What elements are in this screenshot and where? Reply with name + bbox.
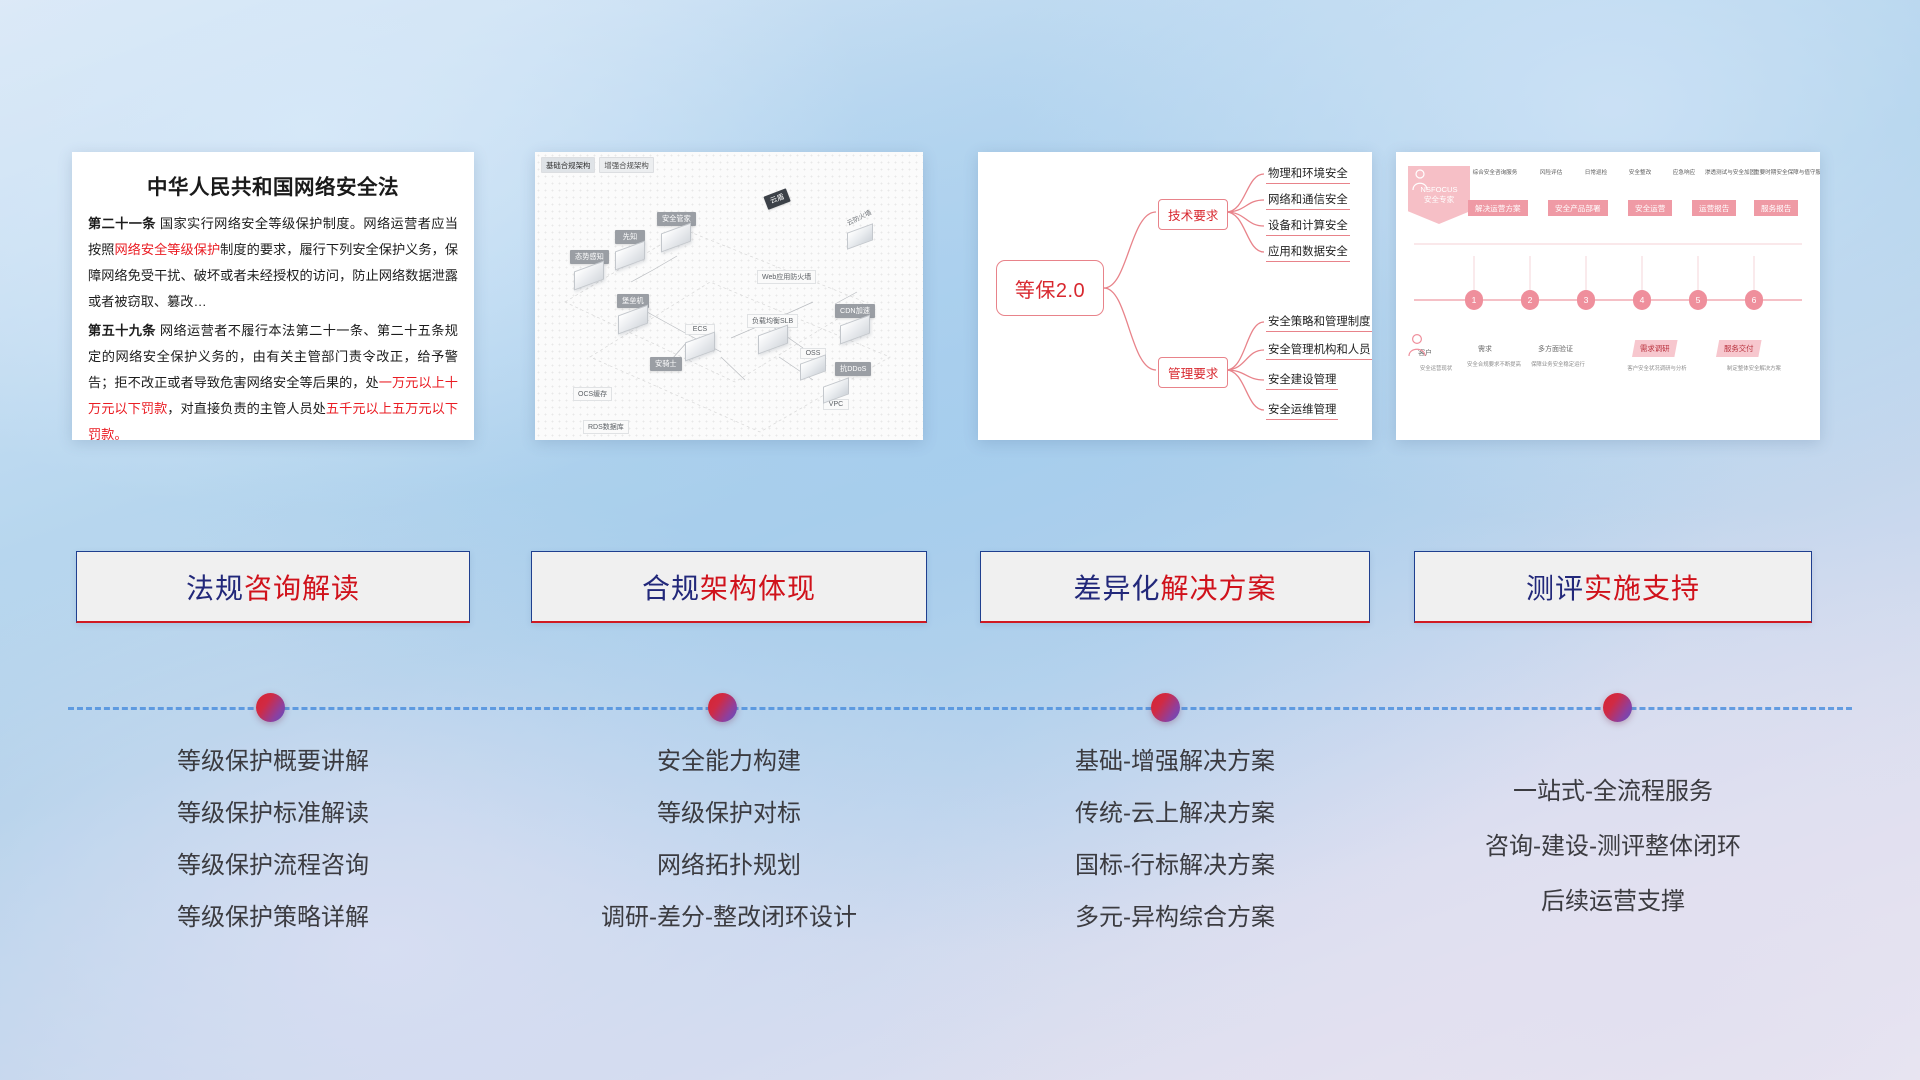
- node-anti-ddos: 抗DDoS: [835, 362, 871, 376]
- node-security-knight: 安骑士: [650, 357, 682, 371]
- heading-blue-part: 法规: [186, 567, 244, 607]
- roadmap-canvas: NSFOCUS 安全专家 综合安全咨询服务 风险评估 日常巡检 安全整改 应急响…: [1396, 152, 1820, 440]
- roadmap-pill: 解决运营方案: [1468, 200, 1528, 216]
- list-item: 等级保护概要讲解: [76, 750, 470, 774]
- roadmap-step: 5: [1689, 290, 1707, 310]
- heading-box-regulation-consulting[interactable]: 法规咨询解读: [76, 551, 470, 623]
- node-slb: 负载均衡SLB: [747, 314, 798, 349]
- list-item: 等级保护策略详解: [76, 906, 470, 930]
- heading-red-part: 架构体现: [700, 567, 816, 607]
- mindmap-leaf: 物理和环境安全: [1266, 164, 1350, 184]
- detail-column-architecture: 安全能力构建 等级保护对标 网络拓扑规划 调研-差分-整改闭环设计: [531, 750, 927, 958]
- roadmap-head: 渗透测试与安全加固: [1702, 168, 1758, 176]
- roadmap-head: 综合安全咨询服务: [1466, 168, 1524, 176]
- roadmap-head: 应急响应: [1664, 168, 1704, 176]
- heading-box-evaluation-support[interactable]: 测评实施支持: [1414, 551, 1812, 623]
- brand-subtitle: 安全专家: [1424, 195, 1454, 205]
- roadmap-step: 2: [1521, 290, 1539, 310]
- roadmap-side-label: 需求: [1478, 344, 1492, 354]
- node-cdn: CDN加速: [835, 304, 875, 339]
- roadmap-step: 4: [1633, 290, 1651, 310]
- law-title: 中华人民共和国网络安全法: [72, 152, 474, 211]
- list-item: 等级保护对标: [531, 802, 927, 826]
- list-item: 调研-差分-整改闭环设计: [531, 906, 927, 930]
- mindmap-root-node: 等保2.0: [996, 260, 1104, 316]
- list-item: 一站式-全流程服务: [1414, 780, 1812, 804]
- heading-red-part: 咨询解读: [244, 567, 360, 607]
- cards-row: 中华人民共和国网络安全法 第二十一条 国家实行网络安全等级保护制度。网络运营者应…: [0, 0, 1920, 440]
- list-item: 国标-行标解决方案: [980, 854, 1370, 878]
- timeline-dashed-line: [68, 707, 1852, 710]
- roadmap-caption: 制定整体安全解决方案: [1708, 364, 1800, 372]
- list-item: 安全能力构建: [531, 750, 927, 774]
- timeline: [0, 688, 1920, 728]
- roadmap-head: 日常巡检: [1576, 168, 1616, 176]
- heading-red-part: 解决方案: [1161, 567, 1277, 607]
- article-21-highlight: 网络安全等级保护: [114, 242, 220, 257]
- mindmap-leaf: 安全管理机构和人员: [1266, 340, 1372, 360]
- heading-blue-part: 差异化: [1073, 567, 1160, 607]
- expert-icon: [1410, 168, 1430, 192]
- node-situation-awareness: 态势感知: [570, 250, 609, 285]
- card-architecture-diagram: 基础合规架构 增强合规架构: [535, 152, 923, 440]
- list-item: 咨询-建设-测评整体闭环: [1414, 835, 1812, 859]
- roadmap-head: 风险评估: [1530, 168, 1572, 176]
- mindmap-leaf: 网络和通信安全: [1266, 190, 1350, 210]
- roadmap-caption: 客户安全状况调研与分析: [1612, 364, 1702, 372]
- roadmap-head: 安全整改: [1620, 168, 1660, 176]
- tab-basic-architecture[interactable]: 基础合规架构: [541, 157, 595, 173]
- article-59-label: 第五十九条: [88, 323, 156, 338]
- roadmap-banner: 服务交付: [1716, 340, 1762, 357]
- heading-red-part: 实施支持: [1584, 567, 1700, 607]
- architecture-canvas: 基础合规架构 增强合规架构: [535, 152, 923, 440]
- list-item: 等级保护标准解读: [76, 802, 470, 826]
- law-article-21: 第二十一条 国家实行网络安全等级保护制度。网络运营者应当按照网络安全等级保护制度…: [88, 211, 458, 315]
- mindmap-leaf: 安全建设管理: [1266, 370, 1338, 390]
- roadmap-pill: 安全产品部署: [1548, 200, 1608, 216]
- article-59-text-b: ，对直接负责的主管人员处: [167, 401, 326, 416]
- timeline-dot-3[interactable]: [1151, 693, 1180, 722]
- node-ocs-cache: OCS缓存: [573, 387, 612, 401]
- heading-blue-part: 合规: [642, 567, 700, 607]
- timeline-dot-2[interactable]: [708, 693, 737, 722]
- detail-column-evaluation: 一站式-全流程服务 咨询-建设-测评整体闭环 后续运营支撑: [1414, 780, 1812, 945]
- card-cybersecurity-law: 中华人民共和国网络安全法 第二十一条 国家实行网络安全等级保护制度。网络运营者应…: [72, 152, 474, 440]
- law-body: 第二十一条 国家实行网络安全等级保护制度。网络运营者应当按照网络安全等级保护制度…: [72, 211, 474, 440]
- roadmap-side-caption: 保障业务安全稳定运行: [1518, 360, 1598, 368]
- roadmap-head: 重要时期安全保障与值守服务: [1754, 168, 1816, 176]
- mindmap-leaf: 设备和计算安全: [1266, 216, 1350, 236]
- node-security-butler: 安全管家: [657, 212, 696, 247]
- detail-column-solution: 基础-增强解决方案 传统-云上解决方案 国标-行标解决方案 多元-异构综合方案: [980, 750, 1370, 958]
- node-ecs: ECS: [685, 324, 715, 356]
- list-item: 后续运营支撑: [1414, 890, 1812, 914]
- list-item: 等级保护流程咨询: [76, 854, 470, 878]
- mindmap-leaf: 安全运维管理: [1266, 400, 1338, 420]
- mindmap-leaf: 应用和数据安全: [1266, 242, 1350, 262]
- node-vpc: VPC: [823, 382, 849, 410]
- heading-blue-part: 测评: [1526, 567, 1584, 607]
- card-mindmap-dengbao: 等保2.0 技术要求 管理要求 物理和环境安全 网络和通信安全 设备和计算安全 …: [978, 152, 1372, 440]
- node-cloud-shield: 云盾: [765, 192, 789, 206]
- node-rds-database: RDS数据库: [583, 420, 629, 434]
- detail-column-regulation: 等级保护概要讲解 等级保护标准解读 等级保护流程咨询 等级保护策略详解: [76, 750, 470, 958]
- list-item: 传统-云上解决方案: [980, 802, 1370, 826]
- roadmap-banner: 需求调研: [1632, 340, 1678, 357]
- roadmap-pill: 安全运营: [1628, 200, 1672, 216]
- card-service-roadmap: NSFOCUS 安全专家 综合安全咨询服务 风险评估 日常巡检 安全整改 应急响…: [1396, 152, 1820, 440]
- node-waf: Web应用防火墙: [757, 270, 816, 284]
- timeline-dot-4[interactable]: [1603, 693, 1632, 722]
- roadmap-step: 6: [1745, 290, 1763, 310]
- mindmap-branch-technical: 技术要求: [1158, 199, 1228, 230]
- tab-enhanced-architecture[interactable]: 增强合规架构: [599, 157, 653, 173]
- architecture-tabs: 基础合规架构 增强合规架构: [541, 157, 654, 173]
- roadmap-step: 1: [1465, 290, 1483, 310]
- roadmap-pill: 服务报告: [1754, 200, 1798, 216]
- heading-box-differentiated-solution[interactable]: 差异化解决方案: [980, 551, 1370, 623]
- node-bastion-host: 堡垒机: [617, 294, 649, 329]
- roadmap-side-label: 多方面验证: [1538, 344, 1573, 354]
- timeline-dot-1[interactable]: [256, 693, 285, 722]
- roadmap-step: 3: [1577, 290, 1595, 310]
- list-item: 基础-增强解决方案: [980, 750, 1370, 774]
- node-cloud-firewall: 云防火墙: [847, 218, 873, 245]
- list-item: 多元-异构综合方案: [980, 906, 1370, 930]
- node-prophet: 先知: [615, 230, 645, 265]
- list-item: 网络拓扑规划: [531, 854, 927, 878]
- article-21-label: 第二十一条: [88, 216, 156, 231]
- mindmap-branch-management: 管理要求: [1158, 357, 1228, 388]
- heading-box-compliance-architecture[interactable]: 合规架构体现: [531, 551, 927, 623]
- user-icon: [1406, 332, 1428, 358]
- node-oss: OSS: [800, 348, 826, 376]
- roadmap-pill: 运营报告: [1692, 200, 1736, 216]
- mindmap-canvas: 等保2.0 技术要求 管理要求 物理和环境安全 网络和通信安全 设备和计算安全 …: [978, 152, 1372, 440]
- law-article-59: 第五十九条 网络运营者不履行本法第二十一条、第二十五条规定的网络安全保护义务的，…: [88, 318, 458, 440]
- mindmap-leaf: 安全策略和管理制度: [1266, 312, 1372, 332]
